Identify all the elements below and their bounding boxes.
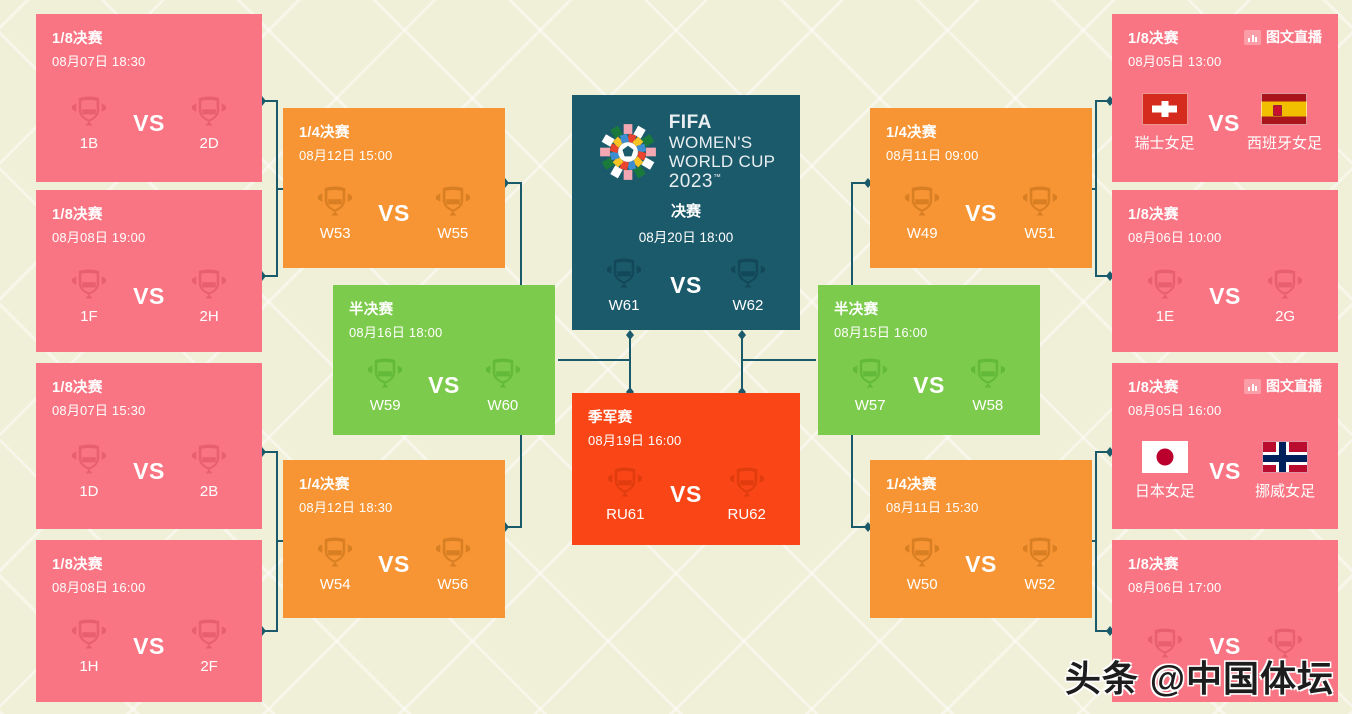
vs-label: VS <box>958 551 1003 578</box>
team-name: W53 <box>320 225 351 242</box>
team-name: W58 <box>972 397 1003 414</box>
teams-row: W59 VS W60 <box>349 345 539 425</box>
match-card-third-place[interactable]: 季军赛 08月19日 16:00 RU61 VS RU62 <box>572 393 800 545</box>
away-team: RU62 <box>709 465 784 523</box>
round-label: 1/8决赛 <box>1128 553 1179 574</box>
teams-row: 瑞士女足 VS 西班牙女足 <box>1128 74 1322 172</box>
team-placeholder-icon <box>604 465 646 499</box>
team-name: W49 <box>907 225 938 242</box>
round-label: 1/8决赛 <box>52 27 103 48</box>
watermark-text: 头条 @中国体坛 <box>1065 650 1334 702</box>
team-placeholder-icon <box>314 184 356 218</box>
team-name: W60 <box>487 397 518 414</box>
match-card-left-r16-1[interactable]: 1/8决赛 08月07日 18:30 1B VS 2D <box>36 14 262 182</box>
team-placeholder-icon <box>1019 184 1061 218</box>
team-name: 2G <box>1275 308 1295 325</box>
teams-row: 日本女足 VS 挪威女足 <box>1128 423 1322 519</box>
match-card-final[interactable]: FIFA WOMEN'S WORLD CUP 2023™ 决赛 08月20日 1… <box>572 95 800 330</box>
round-label: 1/8决赛 <box>1128 376 1179 397</box>
match-date: 08月11日 15:30 <box>886 497 1076 516</box>
fifa-emblem-icon <box>597 121 659 183</box>
card-header: 1/4决赛 <box>299 122 489 140</box>
fifa-wwc-logo: FIFA WOMEN'S WORLD CUP 2023™ <box>586 113 786 191</box>
team-name: W59 <box>370 397 401 414</box>
card-header: 1/8决赛 <box>52 204 246 222</box>
live-badge-label: 图文直播 <box>1266 27 1322 47</box>
match-card-right-r16-1[interactable]: 1/8决赛 图文直播 08月05日 13:00 瑞士女足 VS 西班牙女足 <box>1112 14 1338 182</box>
live-badge-label: 图文直播 <box>1266 376 1322 396</box>
vs-label: VS <box>371 551 416 578</box>
teams-row: W49 VS W51 <box>886 168 1076 258</box>
vs-label: VS <box>126 633 172 660</box>
teams-row: W61 VS W62 <box>586 252 786 318</box>
fifa-line-3: WORLD CUP <box>669 153 776 170</box>
team-name: W50 <box>907 576 938 593</box>
team-placeholder-icon <box>1144 267 1186 301</box>
teams-row: 1E VS 2G <box>1128 250 1322 342</box>
home-team: 瑞士女足 <box>1128 93 1201 153</box>
team-placeholder-icon <box>364 356 406 390</box>
home-team: 1E <box>1128 267 1202 325</box>
match-date: 08月06日 10:00 <box>1128 227 1322 246</box>
teams-row: 1B VS 2D <box>52 74 246 172</box>
match-date: 08月05日 16:00 <box>1128 400 1322 419</box>
team-placeholder-icon <box>1019 535 1061 569</box>
vs-label: VS <box>1201 110 1247 137</box>
team-name: W57 <box>855 397 886 414</box>
team-placeholder-icon <box>68 617 110 651</box>
team-name: 2B <box>200 483 218 500</box>
card-header: 季军赛 <box>588 407 784 425</box>
match-date: 08月05日 13:00 <box>1128 51 1322 70</box>
team-name: 1H <box>79 658 98 675</box>
team-name: RU61 <box>606 506 644 523</box>
round-label: 1/4决赛 <box>886 121 937 142</box>
card-header: 1/4决赛 <box>299 474 489 492</box>
match-card-left-qf-2[interactable]: 1/4决赛 08月12日 18:30 W54 VS W56 <box>283 460 505 618</box>
round-label: 季军赛 <box>588 406 632 427</box>
round-label: 1/8决赛 <box>52 203 103 224</box>
round-label: 1/8决赛 <box>1128 27 1179 48</box>
vs-label: VS <box>126 458 172 485</box>
match-card-right-semifinal[interactable]: 半决赛 08月15日 16:00 W57 VS W58 <box>818 285 1040 435</box>
away-team: 2D <box>172 94 246 152</box>
team-placeholder-icon <box>68 267 110 301</box>
team-name: 1B <box>80 135 98 152</box>
round-label: 1/4决赛 <box>299 473 350 494</box>
match-date: 08月11日 09:00 <box>886 145 1076 164</box>
team-name: 1E <box>1156 308 1174 325</box>
home-team: 1B <box>52 94 126 152</box>
round-label: 1/8决赛 <box>52 553 103 574</box>
home-team: W53 <box>299 184 371 242</box>
match-date: 08月08日 19:00 <box>52 227 246 246</box>
away-team: W60 <box>467 356 539 414</box>
card-header: 1/8决赛 <box>52 554 246 572</box>
card-header: 1/8决赛 图文直播 <box>1128 377 1322 395</box>
team-name: W56 <box>437 576 468 593</box>
match-card-right-qf-2[interactable]: 1/4决赛 08月11日 15:30 W50 VS W52 <box>870 460 1092 618</box>
vs-label: VS <box>126 110 172 137</box>
flag-japan-icon <box>1142 441 1188 473</box>
round-label: 半决赛 <box>834 298 878 319</box>
team-placeholder-icon <box>432 184 474 218</box>
home-team: 1D <box>52 442 126 500</box>
trademark-symbol: ™ <box>713 173 722 182</box>
team-name: RU62 <box>728 506 766 523</box>
team-name: 2H <box>200 308 219 325</box>
team-name: W61 <box>609 297 640 314</box>
vs-label: VS <box>421 372 466 399</box>
team-placeholder-icon <box>482 356 524 390</box>
flag-norway-icon <box>1262 441 1308 473</box>
team-placeholder-icon <box>603 256 645 290</box>
away-team: W52 <box>1004 535 1076 593</box>
match-card-right-r16-2[interactable]: 1/8决赛 08月06日 10:00 1E VS 2G <box>1112 190 1338 352</box>
vs-label: VS <box>126 283 172 310</box>
live-chart-icon <box>1244 30 1261 45</box>
home-team: W59 <box>349 356 421 414</box>
team-placeholder-icon <box>188 617 230 651</box>
fifa-line-2: WOMEN'S <box>669 134 776 151</box>
home-team: W49 <box>886 184 958 242</box>
match-date: 08月12日 18:30 <box>299 497 489 516</box>
home-team: W57 <box>834 356 906 414</box>
teams-row: 1D VS 2B <box>52 423 246 519</box>
live-stream-badge[interactable]: 图文直播 <box>1244 27 1322 47</box>
team-placeholder-icon <box>726 465 768 499</box>
live-stream-badge[interactable]: 图文直播 <box>1244 376 1322 396</box>
teams-row: W57 VS W58 <box>834 345 1024 425</box>
team-name: W52 <box>1024 576 1055 593</box>
match-date: 08月15日 16:00 <box>834 322 1024 341</box>
vs-label: VS <box>958 200 1003 227</box>
vs-label: VS <box>371 200 416 227</box>
match-date: 08月07日 15:30 <box>52 400 246 419</box>
team-name: W51 <box>1024 225 1055 242</box>
teams-row: RU61 VS RU62 <box>588 453 784 535</box>
away-team: W56 <box>417 535 489 593</box>
team-name: 西班牙女足 <box>1247 132 1322 153</box>
away-team: W58 <box>952 356 1024 414</box>
team-name: 1D <box>79 483 98 500</box>
round-label: 1/4决赛 <box>299 121 350 142</box>
flag-spain-icon <box>1261 93 1307 125</box>
team-name: W62 <box>733 297 764 314</box>
card-header: 1/4决赛 <box>886 474 1076 492</box>
home-team: 日本女足 <box>1128 441 1202 501</box>
card-header: 半决赛 <box>834 299 1024 317</box>
team-placeholder-icon <box>188 94 230 128</box>
flag-switzerland-icon <box>1142 93 1188 125</box>
team-name: 1F <box>80 308 98 325</box>
round-label: 决赛 <box>586 200 786 221</box>
away-team: W55 <box>417 184 489 242</box>
team-name: W55 <box>437 225 468 242</box>
fifa-line-1: FIFA <box>669 113 776 132</box>
away-team: 2F <box>172 617 246 675</box>
team-placeholder-icon <box>901 535 943 569</box>
match-card-left-r16-4[interactable]: 1/8决赛 08月08日 16:00 1H VS 2F <box>36 540 262 702</box>
match-card-right-r16-3[interactable]: 1/8决赛 图文直播 08月05日 16:00 日本女足 VS 挪威女足 <box>1112 363 1338 529</box>
team-name: 2D <box>200 135 219 152</box>
match-date: 08月12日 15:00 <box>299 145 489 164</box>
team-name: 日本女足 <box>1135 480 1195 501</box>
fifa-line-4: 2023™ <box>669 172 776 191</box>
round-label: 半决赛 <box>349 298 393 319</box>
match-date: 08月07日 18:30 <box>52 51 246 70</box>
round-label: 1/4决赛 <box>886 473 937 494</box>
away-team: W51 <box>1004 184 1076 242</box>
team-placeholder-icon <box>727 256 769 290</box>
match-card-left-qf-1[interactable]: 1/4决赛 08月12日 15:00 W53 VS W55 <box>283 108 505 268</box>
card-header: 1/8决赛 <box>1128 554 1322 572</box>
team-placeholder-icon <box>967 356 1009 390</box>
match-card-left-semifinal[interactable]: 半决赛 08月16日 18:00 W59 VS W60 <box>333 285 555 435</box>
teams-row: W54 VS W56 <box>299 520 489 608</box>
away-team: 2B <box>172 442 246 500</box>
vs-label: VS <box>906 372 951 399</box>
home-team: RU61 <box>588 465 663 523</box>
teams-row: W50 VS W52 <box>886 520 1076 608</box>
vs-label: VS <box>663 481 710 508</box>
home-team: W61 <box>586 256 662 314</box>
team-placeholder-icon <box>849 356 891 390</box>
match-date: 08月06日 17:00 <box>1128 577 1322 596</box>
team-placeholder-icon <box>314 535 356 569</box>
teams-row: 1F VS 2H <box>52 250 246 342</box>
match-date: 08月19日 16:00 <box>588 430 784 449</box>
card-header: 1/8决赛 <box>52 377 246 395</box>
team-name: 挪威女足 <box>1255 480 1315 501</box>
home-team: 1F <box>52 267 126 325</box>
teams-row: W53 VS W55 <box>299 168 489 258</box>
card-header: 1/8决赛 图文直播 <box>1128 28 1322 46</box>
team-placeholder-icon <box>432 535 474 569</box>
live-chart-icon <box>1244 379 1261 394</box>
fifa-wordmark: FIFA WOMEN'S WORLD CUP 2023™ <box>669 113 776 191</box>
away-team: 2H <box>172 267 246 325</box>
match-date: 08月20日 18:00 <box>586 226 786 246</box>
bracket-root: 1/8决赛 08月07日 18:30 1B VS 2D 1/8决赛 08月08日… <box>0 0 1352 714</box>
home-team: 1H <box>52 617 126 675</box>
team-placeholder-icon <box>188 442 230 476</box>
match-card-left-r16-2[interactable]: 1/8决赛 08月08日 19:00 1F VS 2H <box>36 190 262 352</box>
round-label: 1/8决赛 <box>1128 203 1179 224</box>
card-header: 1/8决赛 <box>1128 204 1322 222</box>
team-name: 2F <box>200 658 218 675</box>
match-date: 08月16日 18:00 <box>349 322 539 341</box>
team-name: W54 <box>320 576 351 593</box>
team-placeholder-icon <box>901 184 943 218</box>
match-date: 08月08日 16:00 <box>52 577 246 596</box>
round-label: 1/8决赛 <box>52 376 103 397</box>
team-placeholder-icon <box>68 94 110 128</box>
match-card-right-qf-1[interactable]: 1/4决赛 08月11日 09:00 W49 VS W51 <box>870 108 1092 268</box>
card-header: 1/8决赛 <box>52 28 246 46</box>
card-header: 半决赛 <box>349 299 539 317</box>
team-placeholder-icon <box>68 442 110 476</box>
away-team: 2G <box>1248 267 1322 325</box>
home-team: W50 <box>886 535 958 593</box>
away-team: 西班牙女足 <box>1247 93 1322 153</box>
team-placeholder-icon <box>1264 267 1306 301</box>
vs-label: VS <box>1202 458 1248 485</box>
vs-label: VS <box>662 272 710 299</box>
home-team: W54 <box>299 535 371 593</box>
match-card-left-r16-3[interactable]: 1/8决赛 08月07日 15:30 1D VS 2B <box>36 363 262 529</box>
away-team: 挪威女足 <box>1248 441 1322 501</box>
vs-label: VS <box>1202 283 1248 310</box>
team-name: 瑞士女足 <box>1135 132 1195 153</box>
teams-row: 1H VS 2F <box>52 600 246 692</box>
card-header: 1/4决赛 <box>886 122 1076 140</box>
team-placeholder-icon <box>188 267 230 301</box>
away-team: W62 <box>710 256 786 314</box>
